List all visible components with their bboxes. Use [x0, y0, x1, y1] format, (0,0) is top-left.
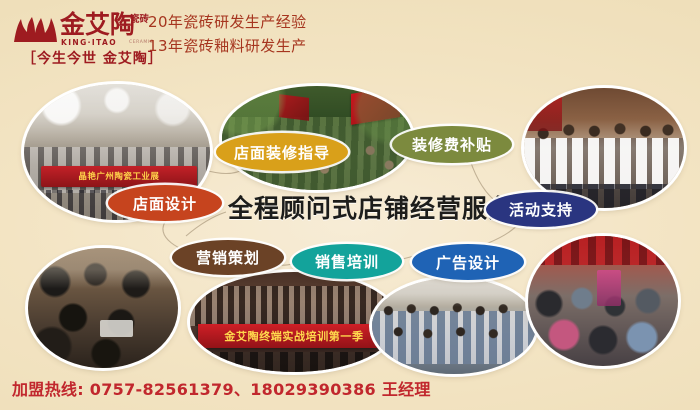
service-pill-sales-training[interactable]: 销售培训: [292, 244, 402, 279]
service-pill-label: 装修费补贴: [412, 134, 492, 155]
service-pill-marketing-planning[interactable]: 营销策划: [172, 240, 284, 275]
hotline-text: 加盟热线: 0757-82561379、18029390386 王经理: [12, 376, 431, 400]
page-title: 全程顾问式店铺经营服务: [228, 189, 514, 225]
store-backdrop: [524, 88, 562, 131]
service-pill-store-design[interactable]: 店面设计: [108, 185, 222, 221]
service-pill-label: 广告设计: [436, 252, 500, 273]
service-pill-label: 活动支持: [509, 199, 573, 220]
photo-staff-group: [372, 278, 536, 374]
service-pill-label: 店面装修指导: [234, 142, 330, 163]
service-pill-label: 营销策划: [196, 247, 260, 268]
photo-dealer-meeting: [28, 248, 178, 368]
service-pill-label: 店面设计: [133, 193, 197, 214]
service-pill-advertising-design[interactable]: 广告设计: [412, 244, 524, 280]
photo-training-banner: 金艾陶终端实战培训第一季: [190, 272, 398, 372]
advertisement-banner: 金艾陶 KING·ITAO 瓷砖 CERAMIC ［今生今世 金艾陶］ 20年瓷…: [0, 0, 700, 410]
photo-store-opening-crowd: [528, 236, 678, 366]
service-pill-activity-support[interactable]: 活动支持: [486, 192, 596, 227]
service-pill-decoration-subsidy[interactable]: 装修费补贴: [392, 126, 512, 163]
service-pill-label: 销售培训: [315, 251, 379, 272]
training-banner-strip: 金艾陶终端实战培训第一季: [198, 324, 389, 348]
photo-executives-lineup: [524, 88, 684, 208]
laptop-icon: [100, 320, 133, 337]
service-pill-store-decoration-guide[interactable]: 店面装修指导: [216, 133, 348, 171]
promo-standee: [597, 270, 621, 306]
